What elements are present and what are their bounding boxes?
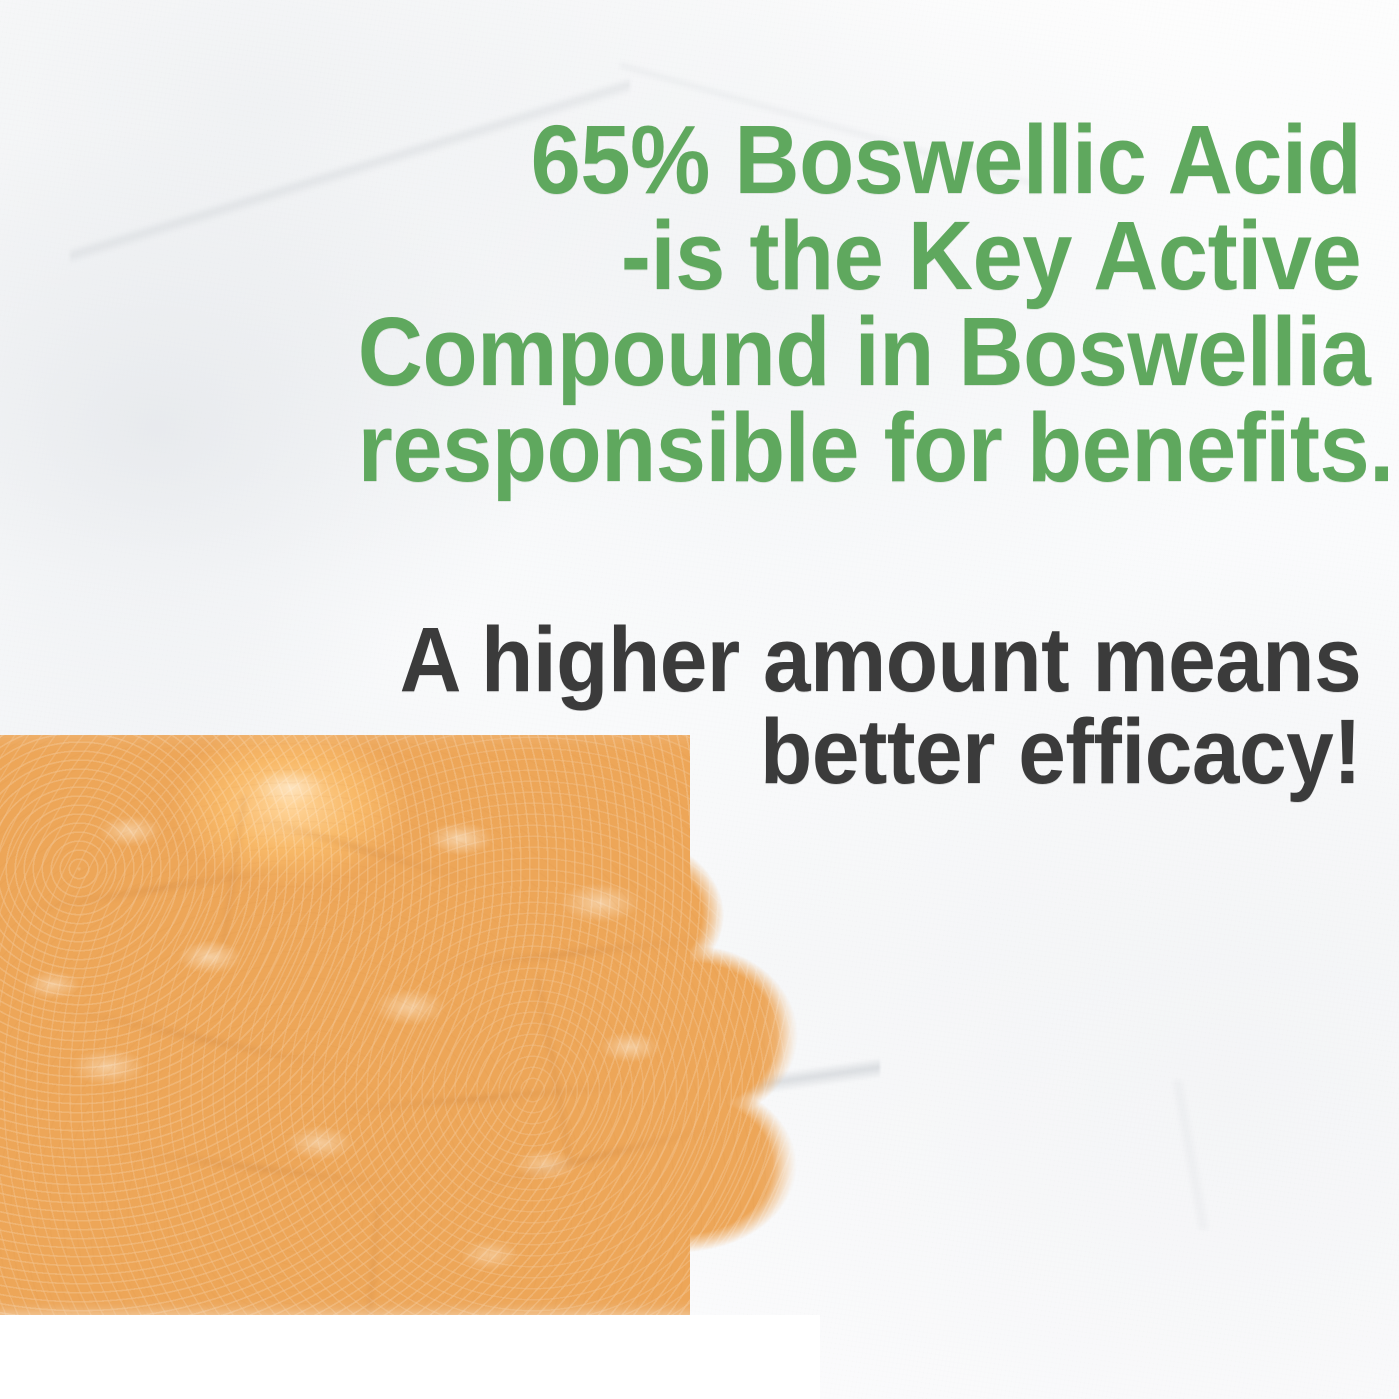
headline-line-1: 65% Boswellic Acid: [358, 112, 1361, 208]
headline-line-3: Compound in Boswellia: [358, 304, 1361, 400]
copy-block: 65% Boswellic Acid -is the Key Active Co…: [320, 112, 1399, 798]
headline: 65% Boswellic Acid -is the Key Active Co…: [320, 112, 1399, 496]
subheadline-line-2: better efficacy!: [358, 706, 1361, 798]
promo-graphic-canvas: 65% Boswellic Acid -is the Key Active Co…: [0, 0, 1399, 1399]
gummy-pile-silhouette: [0, 735, 800, 1317]
subheadline-line-1: A higher amount means: [358, 614, 1361, 706]
gummy-edge-softening: [0, 735, 800, 1317]
subheadline: A higher amount means better efficacy!: [320, 614, 1399, 798]
headline-line-4: responsible for benefits.: [358, 400, 1361, 496]
photo-bottom-crop-band: [0, 1315, 820, 1399]
gummy-bear-photo: [0, 735, 800, 1317]
headline-line-2: -is the Key Active: [358, 208, 1361, 304]
